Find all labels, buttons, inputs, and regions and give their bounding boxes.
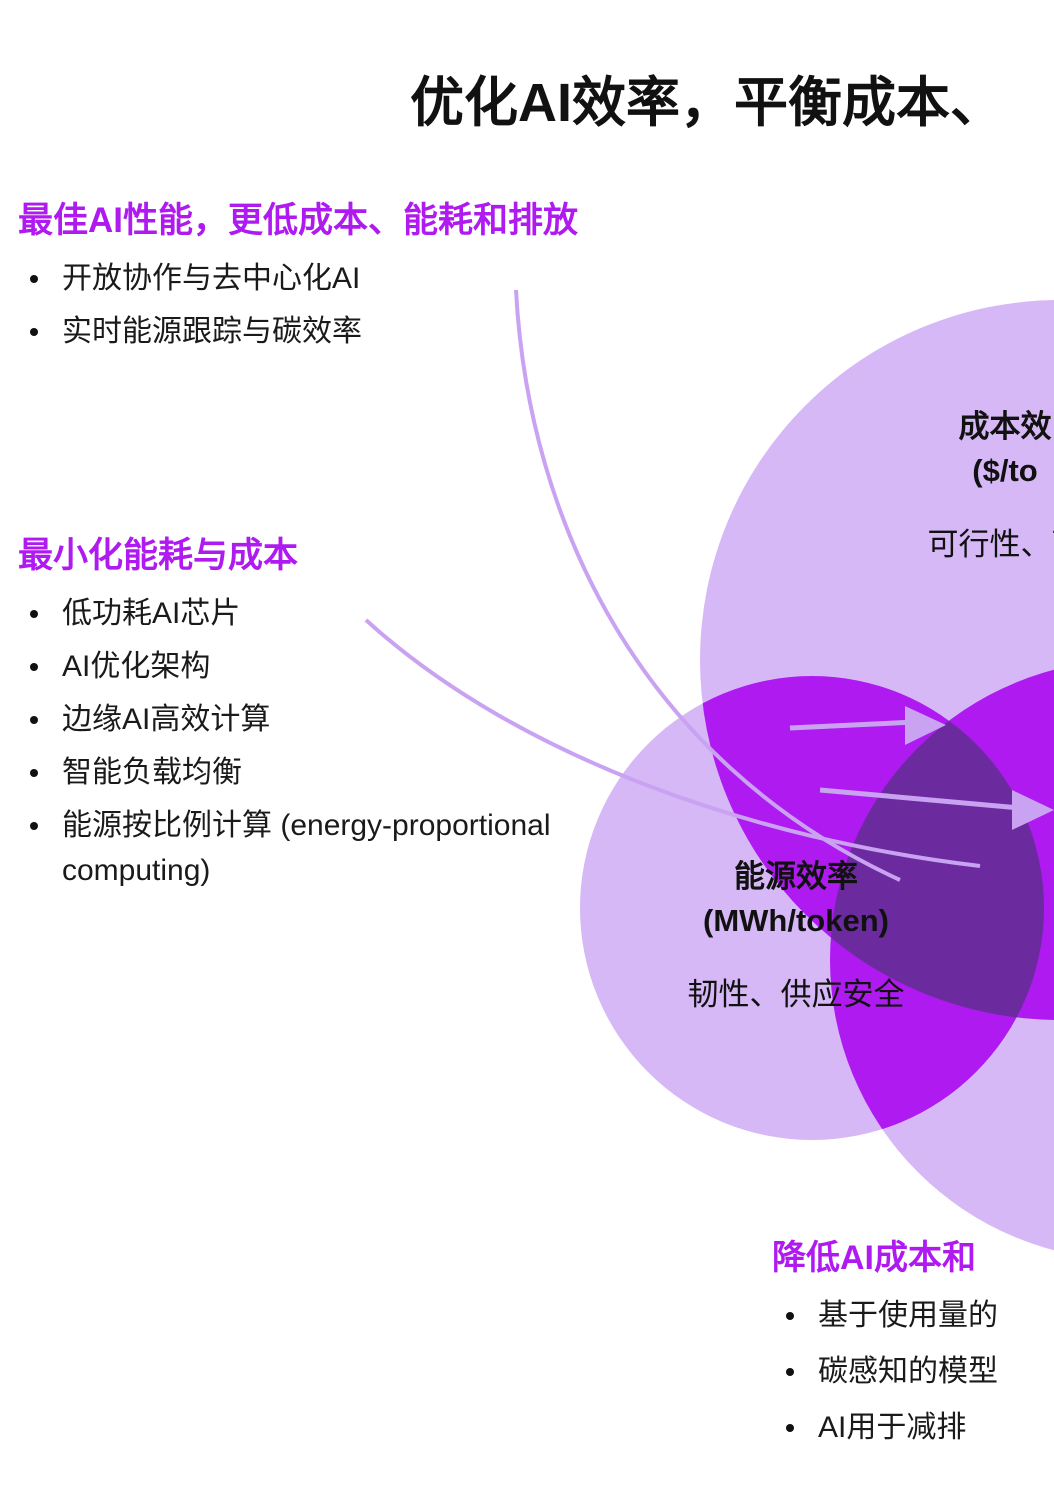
list-item: 碳感知的模型 <box>772 1349 1054 1395</box>
page-title: 优化AI效率，平衡成本、 <box>410 72 1054 134</box>
list-item: 边缘AI高效计算 <box>18 697 578 743</box>
list-item: 开放协作与去中心化AI <box>18 256 548 302</box>
section-performance-heading: 最佳AI性能，更低成本、能耗和排放 <box>18 200 548 242</box>
circle-cost-main: 成本效 <box>959 409 1052 444</box>
circle-cost-sub: 可行性、可 <box>840 523 1054 567</box>
section-cost-bullets: 基于使用量的 碳感知的模型 AI用于减排 <box>772 1293 1054 1451</box>
list-item: 低功耗AI芯片 <box>18 591 578 637</box>
section-cost: 降低AI成本和 基于使用量的 碳感知的模型 AI用于减排 <box>772 1238 1054 1460</box>
section-performance-bullets: 开放协作与去中心化AI 实时能源跟踪与碳效率 <box>18 256 548 355</box>
arrow-lower <box>820 790 1054 830</box>
circle-label-cost: 成本效 ($/to 可行性、可 <box>840 405 1054 567</box>
list-item: AI优化架构 <box>18 644 578 690</box>
diagram-arrows <box>790 706 1054 830</box>
section-minimize: 最小化能耗与成本 低功耗AI芯片 AI优化架构 边缘AI高效计算 智能负载均衡 … <box>18 535 578 901</box>
list-item: 实时能源跟踪与碳效率 <box>18 309 548 355</box>
section-cost-heading: 降低AI成本和 <box>772 1238 1054 1279</box>
circle-label-energy: 能源效率 (MWh/token) 韧性、供应安全 <box>588 855 1004 1017</box>
slide-canvas: 优化AI效率，平衡成本、 <box>0 0 1054 1510</box>
section-minimize-heading: 最小化能耗与成本 <box>18 535 578 577</box>
section-performance: 最佳AI性能，更低成本、能耗和排放 开放协作与去中心化AI 实时能源跟踪与碳效率 <box>18 200 548 362</box>
circle-energy-unit: (MWh/token) <box>588 899 1004 943</box>
list-item: 能源按比例计算 (energy-proportional computing) <box>18 803 578 895</box>
list-item: AI用于减排 <box>772 1405 1054 1451</box>
section-minimize-bullets: 低功耗AI芯片 AI优化架构 边缘AI高效计算 智能负载均衡 能源按比例计算 (… <box>18 591 578 894</box>
arrow-upper <box>790 706 946 745</box>
list-item: 智能负载均衡 <box>18 750 578 796</box>
circle-energy-main: 能源效率 <box>734 859 858 894</box>
circle-energy-sub: 韧性、供应安全 <box>588 973 1004 1017</box>
circle-cost-unit: ($/to <box>840 449 1054 493</box>
list-item: 基于使用量的 <box>772 1293 1054 1339</box>
